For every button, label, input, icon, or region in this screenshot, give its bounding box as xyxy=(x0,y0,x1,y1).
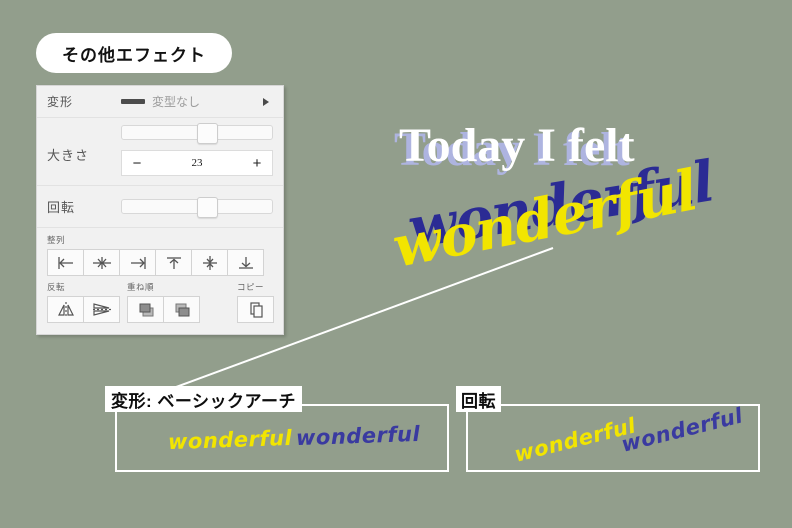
arch-sample-blue: wonderful xyxy=(296,422,421,450)
align-button-row xyxy=(47,249,273,276)
size-decrease-button[interactable]: − xyxy=(122,156,152,171)
section-title-pill: その他エフェクト xyxy=(36,33,232,73)
flip-button-row xyxy=(47,296,119,323)
chevron-right-icon[interactable] xyxy=(263,98,269,106)
size-stepper[interactable]: − 23 + xyxy=(121,150,273,176)
rotation-row: 回転 xyxy=(37,186,283,228)
rotation-slider-thumb[interactable] xyxy=(197,197,218,218)
send-backward-icon[interactable] xyxy=(163,296,200,323)
copy-group-label: コピー xyxy=(237,281,273,293)
callout-tag-arch: 変形: ベーシックアーチ xyxy=(105,386,302,412)
size-row: 大きさ − 23 + xyxy=(37,118,283,186)
flip-group: 反転 xyxy=(47,281,119,323)
flip-horizontal-icon[interactable] xyxy=(47,296,84,323)
align-center-horizontal-icon[interactable] xyxy=(83,249,120,276)
flip-vertical-icon[interactable] xyxy=(83,296,120,323)
canvas: その他エフェクト 変形 変型なし 大きさ − 23 + xyxy=(0,0,792,528)
flip-group-label: 反転 xyxy=(47,281,119,293)
rotation-slider[interactable] xyxy=(121,199,273,214)
transform-value: 変型なし xyxy=(152,93,263,110)
arch-sample-yellow: wonderful xyxy=(168,426,293,454)
section-title-label: その他エフェクト xyxy=(62,41,206,66)
transform-row[interactable]: 変形 変型なし xyxy=(37,86,283,118)
transform-label: 変形 xyxy=(47,93,121,110)
size-slider-thumb[interactable] xyxy=(197,123,218,144)
align-right-icon[interactable] xyxy=(119,249,156,276)
size-slider[interactable] xyxy=(121,125,273,140)
order-group-label: 重ね順 xyxy=(127,281,199,293)
copy-group: コピー xyxy=(237,281,273,323)
order-group: 重ね順 xyxy=(127,281,199,323)
callout-tag-rotation: 回転 xyxy=(456,386,501,412)
size-increase-button[interactable]: + xyxy=(242,156,272,171)
align-group-label: 整列 xyxy=(47,234,273,246)
align-center-vertical-icon[interactable] xyxy=(191,249,228,276)
artwork-script-layers: wonderful wonderful xyxy=(383,160,693,265)
rotation-label: 回転 xyxy=(47,197,121,216)
size-label: 大きさ xyxy=(47,125,121,185)
align-left-icon[interactable] xyxy=(47,249,84,276)
align-group: 整列 xyxy=(37,228,283,276)
copy-button-row xyxy=(237,296,273,323)
transform-preview-bar-icon xyxy=(121,99,145,104)
effects-panel: 変形 変型なし 大きさ − 23 + 回転 xyxy=(36,85,284,335)
copy-icon[interactable] xyxy=(237,296,274,323)
text-artwork[interactable]: Today I felt wonderful wonderful xyxy=(383,118,693,268)
order-button-row xyxy=(127,296,199,323)
align-top-icon[interactable] xyxy=(155,249,192,276)
bottom-groups: 反転 重ね順 xyxy=(37,276,283,323)
align-bottom-icon[interactable] xyxy=(227,249,264,276)
size-value[interactable]: 23 xyxy=(152,157,242,169)
bring-forward-icon[interactable] xyxy=(127,296,164,323)
